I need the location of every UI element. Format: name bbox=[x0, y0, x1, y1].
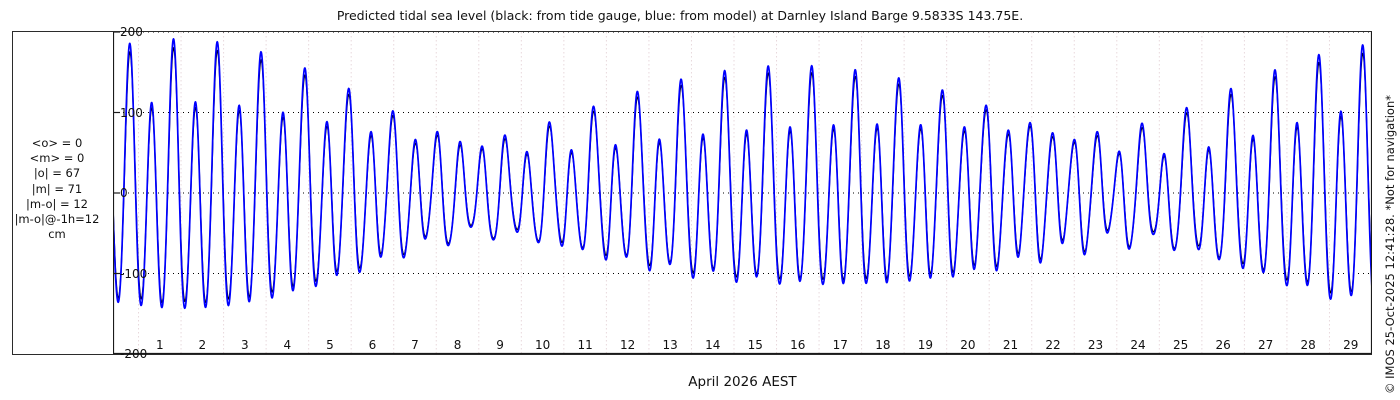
x-axis-tick-label: 8 bbox=[454, 338, 462, 352]
plot-area bbox=[113, 32, 1372, 354]
x-axis-tick-label: 29 bbox=[1343, 338, 1358, 352]
x-axis-tick-label: 4 bbox=[284, 338, 292, 352]
x-axis-tick-label: 3 bbox=[241, 338, 249, 352]
x-axis-tick-label: 9 bbox=[496, 338, 504, 352]
x-axis-tick-label: 20 bbox=[960, 338, 975, 352]
x-axis-tick-label: 11 bbox=[577, 338, 592, 352]
stat-abs-difference-lagged: |m-o|@-1h=12 bbox=[2, 212, 112, 227]
statistics-block: <o> = 0 <m> = 0 |o| = 67 |m| = 71 |m-o| … bbox=[2, 136, 112, 242]
x-axis-tick-label: 22 bbox=[1045, 338, 1060, 352]
y-axis-tick-label: 200 bbox=[120, 25, 143, 39]
x-axis-tick-label: 18 bbox=[875, 338, 890, 352]
x-axis-tick-label: 25 bbox=[1173, 338, 1188, 352]
copyright-notice: © IMOS 25-Oct-2025 12:41:28. *Not for na… bbox=[1383, 95, 1397, 394]
x-axis-tick-label: 15 bbox=[748, 338, 763, 352]
x-axis-tick-label: 27 bbox=[1258, 338, 1273, 352]
x-axis-tick-label: 28 bbox=[1301, 338, 1316, 352]
x-axis-tick-label: 26 bbox=[1215, 338, 1230, 352]
x-axis-tick-label: 5 bbox=[326, 338, 334, 352]
x-axis-tick-label: 14 bbox=[705, 338, 720, 352]
tide-chart-svg bbox=[113, 32, 1372, 354]
stat-abs-difference: |m-o| = 12 bbox=[2, 197, 112, 212]
credit-container: © IMOS 25-Oct-2025 12:41:28. *Not for na… bbox=[1383, 0, 1400, 400]
x-axis-tick-label: 1 bbox=[156, 338, 164, 352]
x-axis-tick-label: 19 bbox=[918, 338, 933, 352]
series-line-model bbox=[113, 39, 1372, 308]
x-axis-tick-label: 23 bbox=[1088, 338, 1103, 352]
stat-abs-model: |m| = 71 bbox=[2, 182, 112, 197]
page-title: Predicted tidal sea level (black: from t… bbox=[0, 8, 1360, 23]
x-axis-tick-label: 16 bbox=[790, 338, 805, 352]
stat-abs-observed: |o| = 67 bbox=[2, 166, 112, 181]
y-axis-tick-label: 0 bbox=[120, 186, 128, 200]
y-axis-tick-label: 100 bbox=[120, 106, 143, 120]
x-axis-tick-label: 12 bbox=[620, 338, 635, 352]
y-axis-tick-label: -200 bbox=[120, 347, 147, 361]
stat-mean-observed: <o> = 0 bbox=[2, 136, 112, 151]
y-axis-tick-label: -100 bbox=[120, 267, 147, 281]
x-axis-tick-label: 17 bbox=[833, 338, 848, 352]
x-axis-tick-label: 7 bbox=[411, 338, 419, 352]
x-axis-tick-label: 21 bbox=[1003, 338, 1018, 352]
x-axis-tick-label: 6 bbox=[369, 338, 377, 352]
x-axis-tick-label: 2 bbox=[198, 338, 206, 352]
stat-units: cm bbox=[2, 227, 112, 242]
x-axis-tick-label: 10 bbox=[535, 338, 550, 352]
x-axis-tick-label: 24 bbox=[1130, 338, 1145, 352]
x-axis-title: April 2026 AEST bbox=[113, 374, 1372, 390]
x-axis-tick-label: 13 bbox=[663, 338, 678, 352]
stat-mean-model: <m> = 0 bbox=[2, 151, 112, 166]
